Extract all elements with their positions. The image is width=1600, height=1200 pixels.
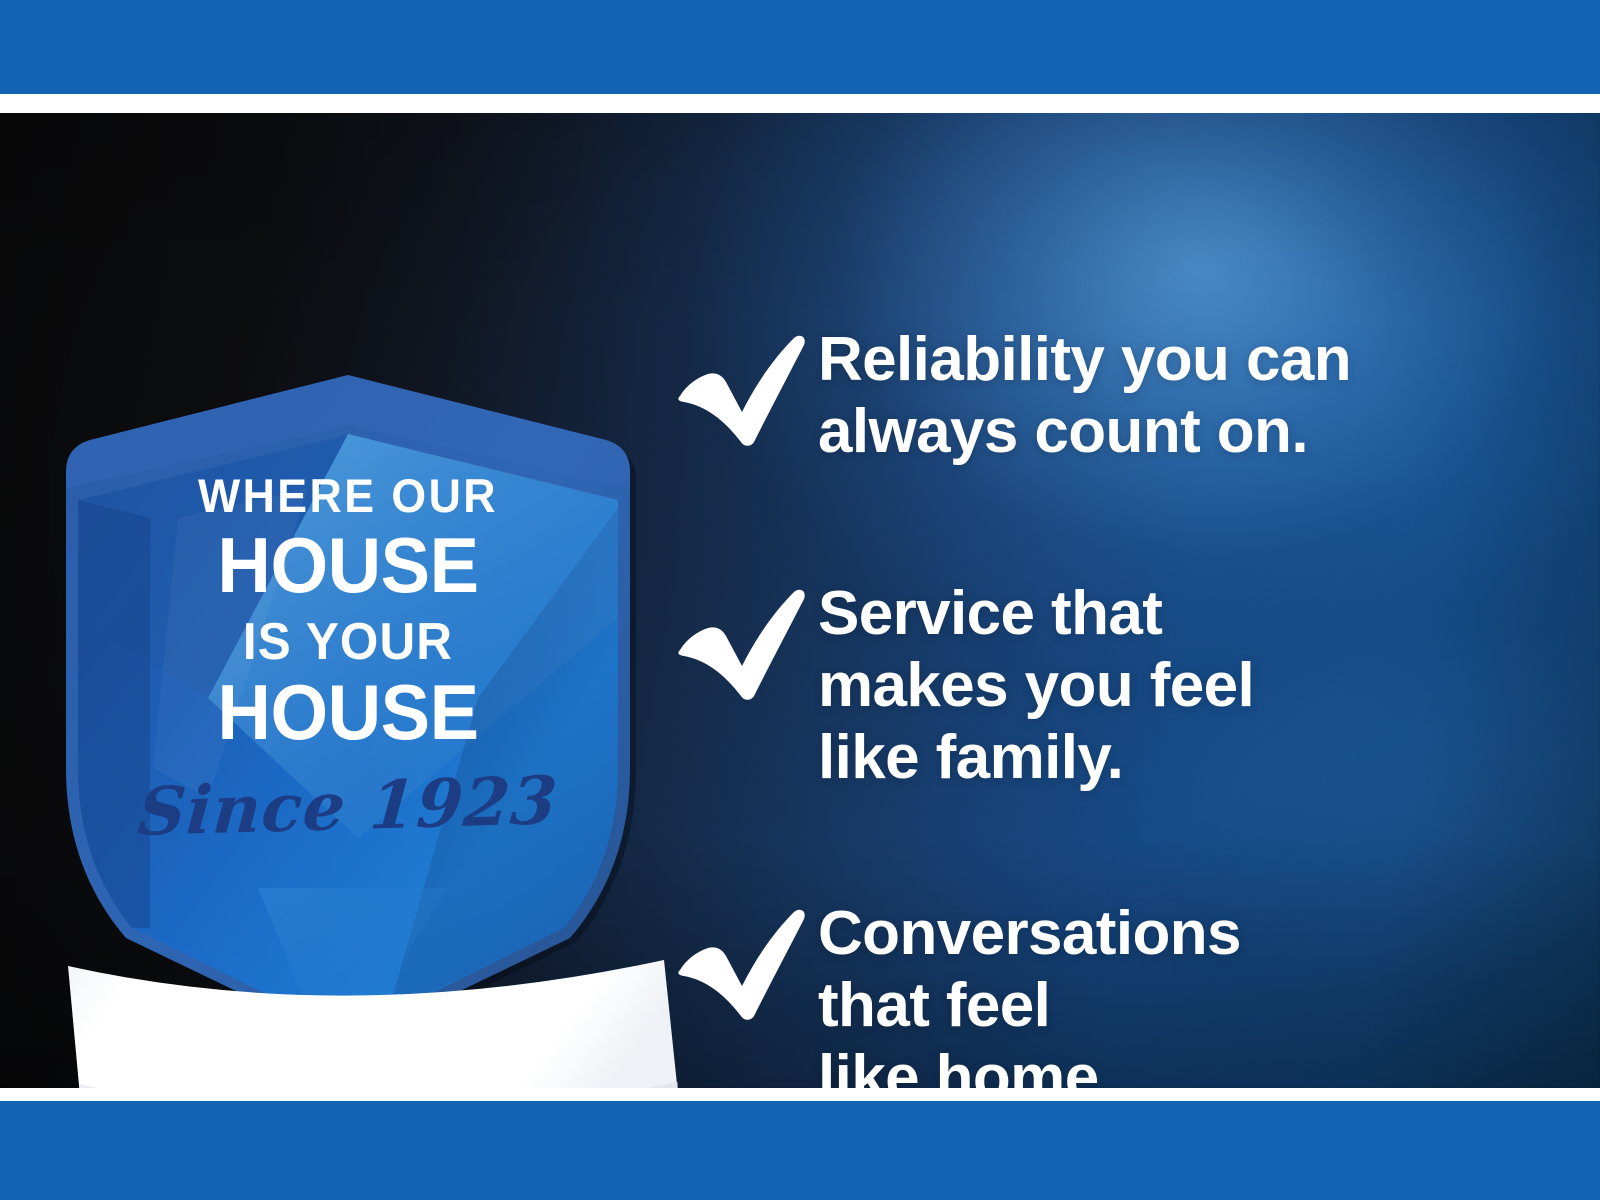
benefit-item: Reliability you can always count on. [668,324,1351,468]
logo-line-house-2: HOUSE [73,673,624,751]
promo-graphic: WHERE OUR HOUSE IS YOUR HOUSE Since 1923… [0,0,1600,1200]
shield-logo: WHERE OUR HOUSE IS YOUR HOUSE Since 1923 [58,368,638,1058]
logo-line-where-our: WHERE OUR [73,472,624,519]
bottom-brand-bar [0,1101,1600,1200]
checkmark-icon [668,578,818,700]
benefit-item: Service that makes you feel like family. [668,578,1254,794]
main-panel: WHERE OUR HOUSE IS YOUR HOUSE Since 1923… [0,113,1600,1088]
benefit-text: Conversations that feel like home. [818,898,1241,1088]
checkmark-icon [668,324,818,446]
checkmark-icon [668,898,818,1020]
benefit-text: Reliability you can always count on. [818,324,1351,468]
logo-ribbon-since: Since 1923 [55,759,641,853]
logo-line-house-1: HOUSE [73,526,624,604]
benefits-list: Reliability you can always count on. Ser… [668,226,1568,1088]
benefit-item: Conversations that feel like home. [668,898,1241,1088]
top-brand-bar [0,0,1600,94]
benefit-text: Service that makes you feel like family. [818,578,1254,794]
logo-line-is-your: IS YOUR [73,616,624,668]
